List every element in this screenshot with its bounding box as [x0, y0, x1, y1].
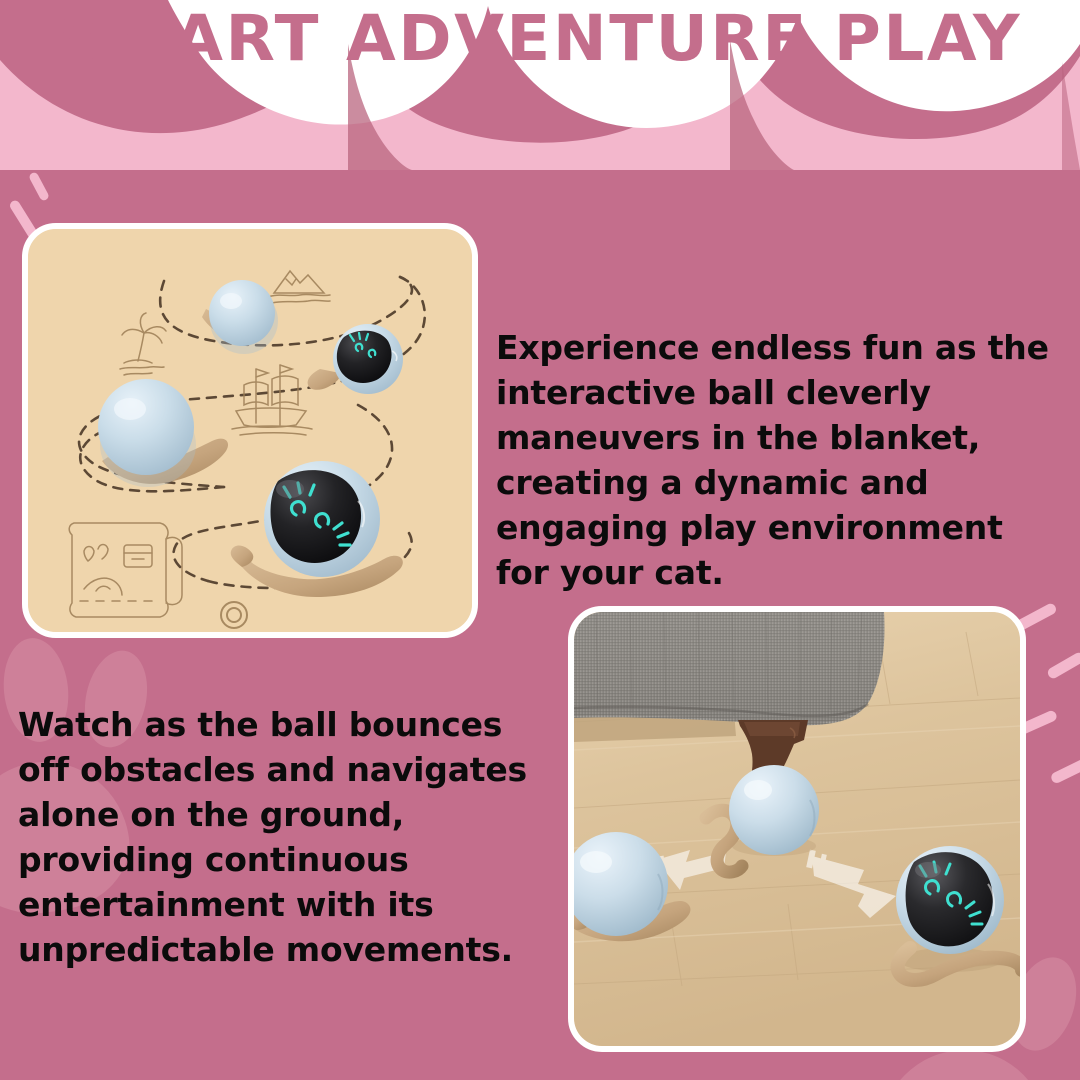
sparkle-dash-icon	[28, 171, 50, 202]
page-title: SMART ADVENTURE PLAY	[0, 0, 1080, 75]
illustration-panel	[22, 223, 478, 638]
paw-toe	[0, 662, 6, 774]
balls-on-floor-photo	[574, 612, 1020, 1046]
poster-canvas: SMART ADVENTURE PLAY	[0, 0, 1080, 1080]
adventure-map-illustration	[28, 229, 472, 632]
left-description-text: Watch as the ball bounces off obstacles …	[18, 702, 558, 972]
product-photo-panel	[568, 606, 1026, 1052]
top-description-text: Experience endless fun as the interactiv…	[496, 325, 1062, 595]
sparkle-dash-icon	[1050, 758, 1080, 785]
header-banner: SMART ADVENTURE PLAY	[0, 0, 1080, 170]
sparkle-dash-icon	[1046, 651, 1080, 681]
